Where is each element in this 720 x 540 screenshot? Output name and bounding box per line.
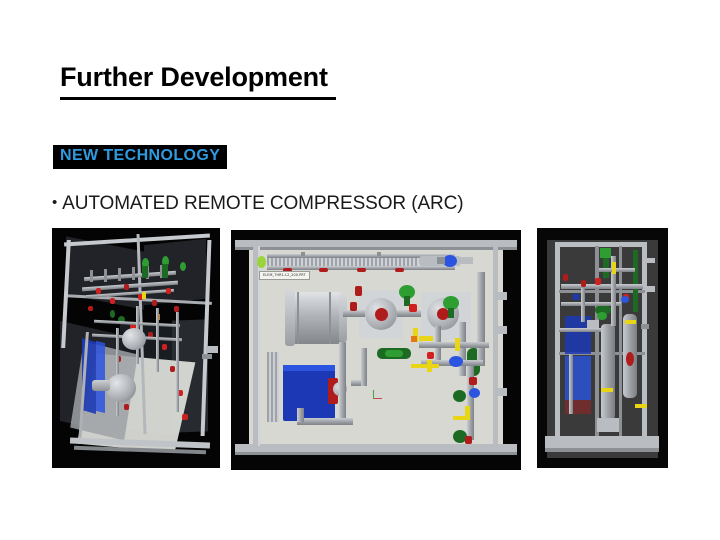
bullet-marker: • <box>52 194 57 211</box>
cad-front-elevation: ELEM_THR1-L2_200.PRT <box>231 230 521 470</box>
bullet-item: •AUTOMATED REMOTE COMPRESSOR (ARC) <box>52 193 464 215</box>
cad-part-tooltip: ELEM_THR1-L2_200.PRT <box>259 271 310 280</box>
perspective-scene <box>52 228 220 468</box>
page-title: Further Development <box>60 62 328 93</box>
new-technology-badge: NEW TECHNOLOGY <box>53 145 227 169</box>
title-underline <box>60 97 336 100</box>
cad-perspective-view <box>52 228 220 468</box>
cad-side-elevation <box>537 228 668 468</box>
bullet-label: AUTOMATED REMOTE COMPRESSOR (ARC) <box>62 193 463 214</box>
